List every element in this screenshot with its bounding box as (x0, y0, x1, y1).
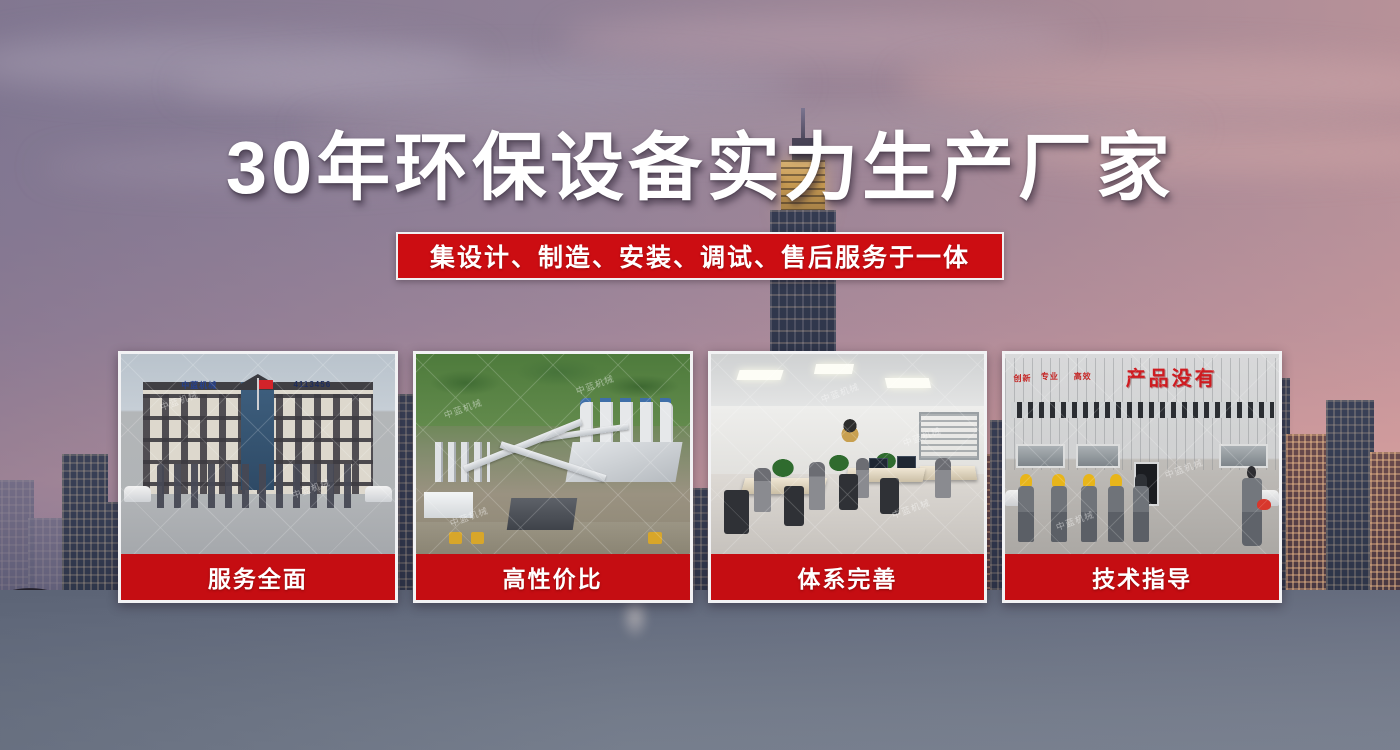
banner-stage: 30年环保设备实力生产厂家 集设计、制造、安装、调试、售后服务于一体 中蓝机械 … (0, 0, 1400, 750)
feature-card[interactable]: 中蓝机械 4113456 中蓝机械 中蓝机械 服务全面 (118, 351, 398, 603)
card-caption: 体系完善 (711, 554, 985, 600)
card-caption: 服务全面 (121, 554, 395, 600)
factory-slogan: 专业 (1041, 372, 1059, 382)
subtitle-text: 集设计、制造、安装、调试、售后服务于一体 (430, 238, 970, 274)
wall-logo-icon (831, 414, 869, 442)
factory-signage: 产品没有 (1126, 362, 1218, 391)
cloud-streak (900, 52, 1400, 114)
card-photo-company-office-building-with-staff: 中蓝机械 4113456 中蓝机械 中蓝机械 (121, 354, 395, 554)
page-title: 30年环保设备实力生产厂家 (0, 131, 1400, 205)
feature-card[interactable]: 产品没有 创新 专业 高效 中蓝机械 (1002, 351, 1282, 603)
river-water (0, 590, 1400, 750)
subtitle-banner: 集设计、制造、安装、调试、售后服务于一体 (396, 232, 1004, 280)
factory-slogan: 高效 (1074, 372, 1092, 382)
feature-card[interactable]: 中蓝机械 中蓝机械 中蓝机械 高性价比 (413, 351, 693, 603)
red-helmet-icon (1257, 499, 1271, 510)
card-photo-aerial-industrial-plant: 中蓝机械 中蓝机械 中蓝机械 (416, 354, 690, 554)
feature-card-row: 中蓝机械 4113456 中蓝机械 中蓝机械 服务全面 (118, 351, 1282, 603)
flag-icon (257, 378, 259, 410)
feature-card[interactable]: 中蓝机械 中蓝机械 中蓝机械 体系完善 (708, 351, 988, 603)
building-phone-number: 4113456 (293, 380, 331, 389)
card-caption: 高性价比 (416, 554, 690, 600)
building-signage: 中蓝机械 (181, 380, 217, 391)
cloud-streak (0, 34, 480, 92)
cloud-streak (180, 60, 800, 110)
card-caption: 技术指导 (1005, 554, 1279, 600)
cloud-streak (560, 16, 1080, 62)
card-photo-office-interior-staff-workstations: 中蓝机械 中蓝机械 中蓝机械 (711, 354, 985, 554)
card-photo-factory-workers-with-hard-hats: 产品没有 创新 专业 高效 中蓝机械 (1005, 354, 1279, 554)
factory-slogan: 创新 (1013, 374, 1031, 384)
